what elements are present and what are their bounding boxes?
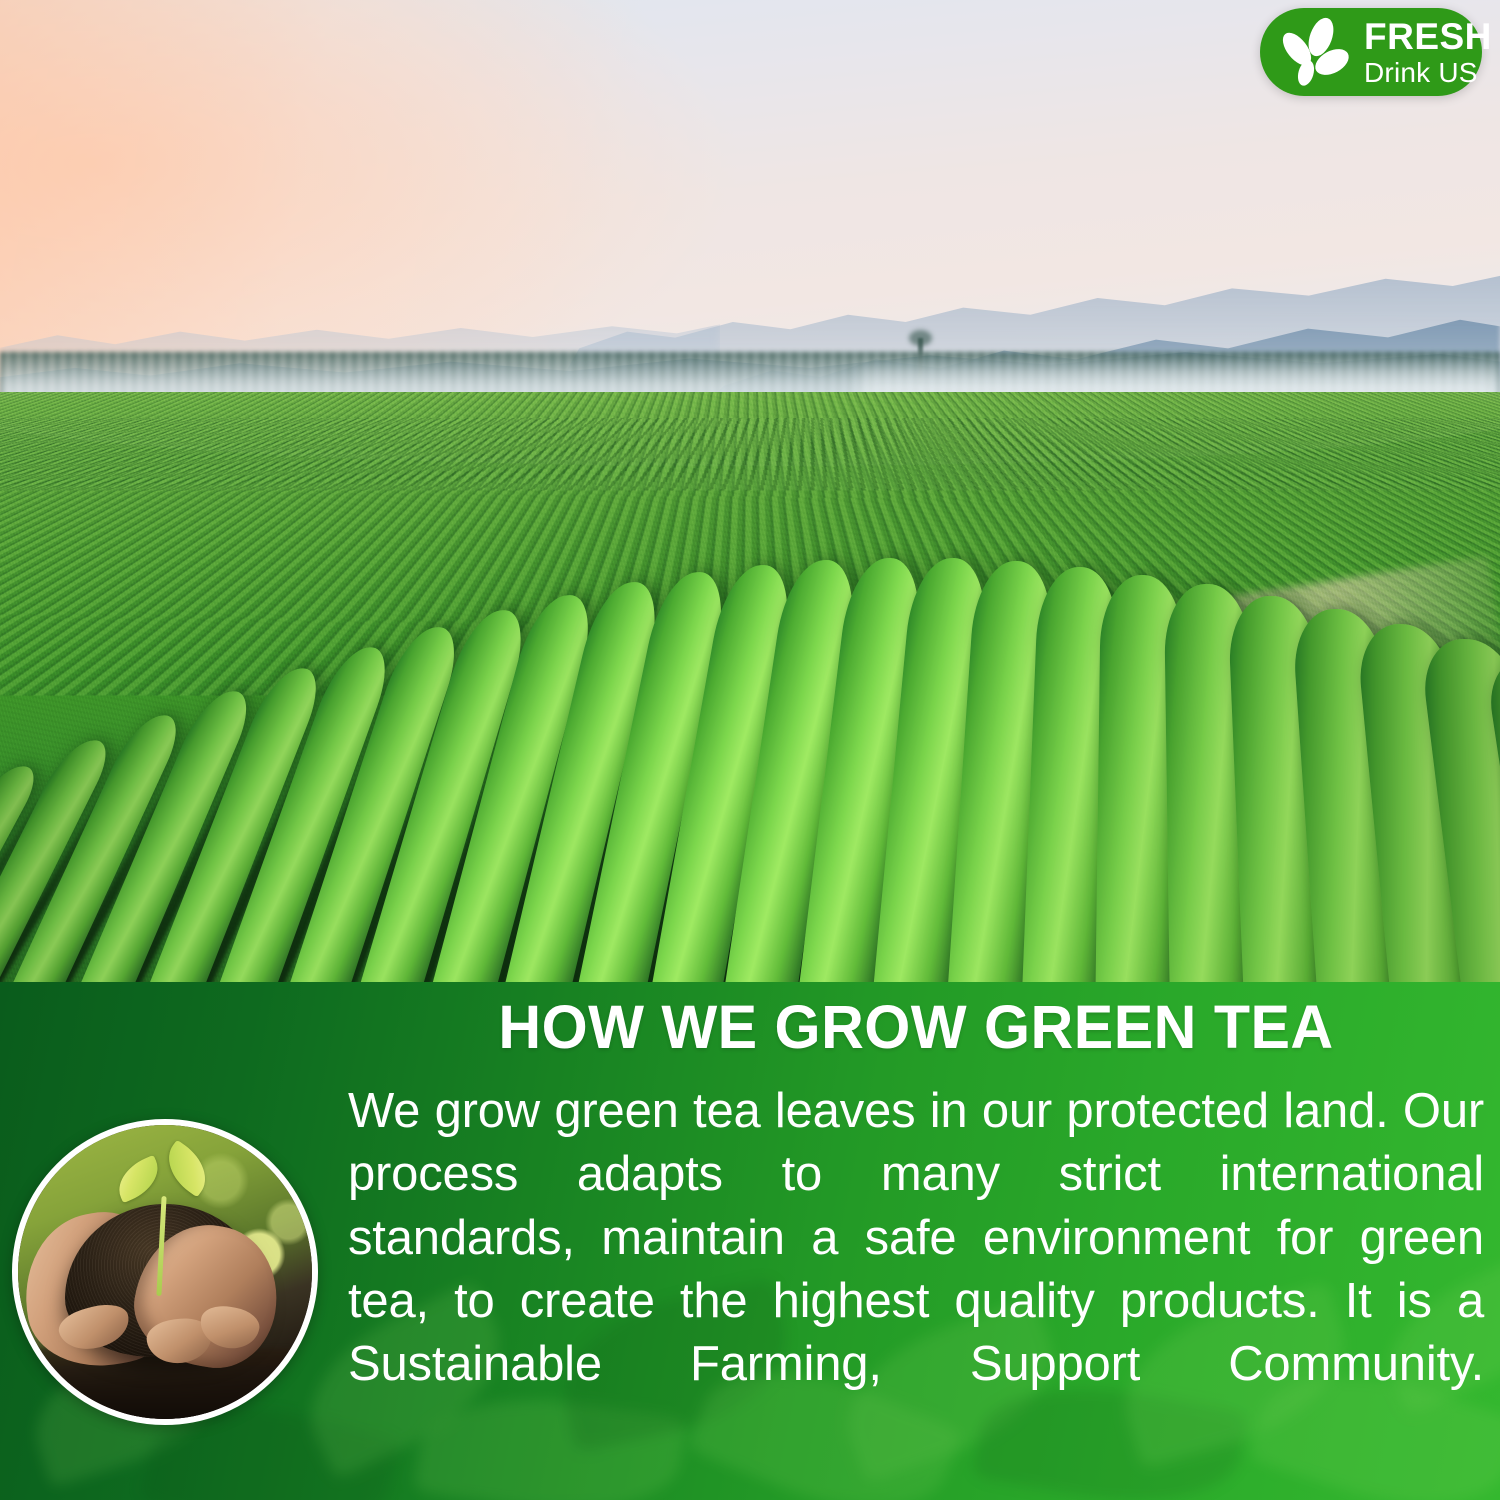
circle-photo-seedling — [12, 1119, 318, 1425]
promotional-poster: FRESH Drink US HOW WE GROW GREEN TEA We … — [0, 0, 1500, 1500]
page-title: HOW WE GROW GREEN TEA — [365, 996, 1467, 1058]
brand-text: FRESH Drink US — [1364, 18, 1492, 87]
four-leaf-cluster-icon — [1272, 15, 1358, 89]
tea-field — [0, 392, 1500, 982]
brand-name: FRESH — [1364, 18, 1492, 55]
body-paragraph: We grow green tea leaves in our protecte… — [348, 1080, 1484, 1459]
hero-photo-tea-plantation — [0, 0, 1500, 982]
brand-tagline: Drink US — [1364, 59, 1492, 87]
panel-copy: HOW WE GROW GREEN TEA We grow green tea … — [348, 996, 1484, 1459]
brand-badge[interactable]: FRESH Drink US — [1260, 8, 1482, 96]
